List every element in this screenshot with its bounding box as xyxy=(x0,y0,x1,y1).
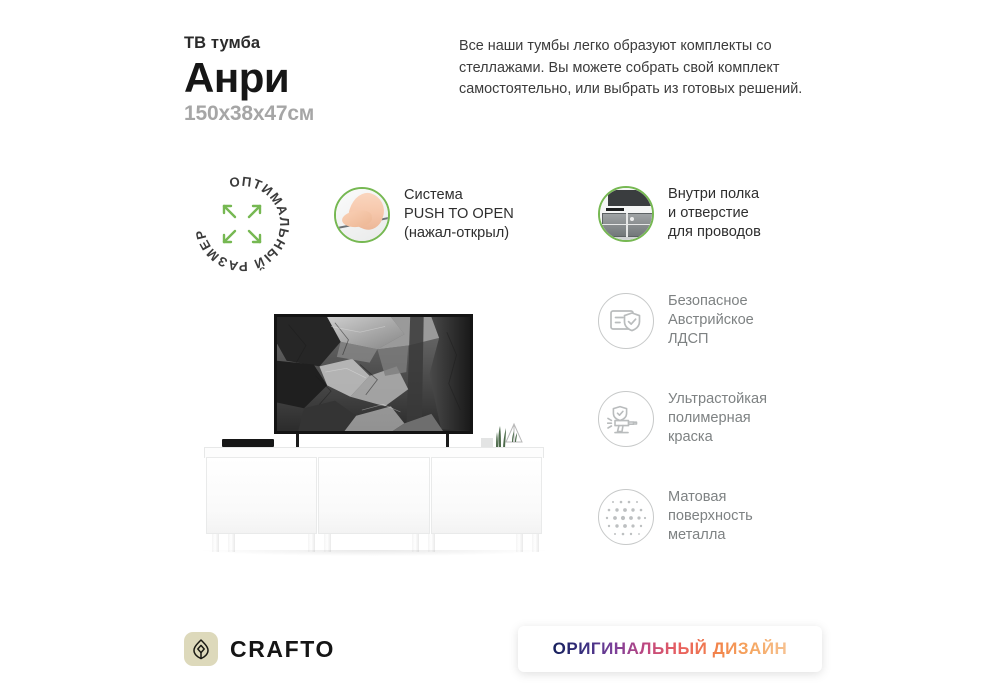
cabinet-doors xyxy=(206,457,542,534)
feature-polymer-paint: Ультрастойкая полимерная краска xyxy=(598,390,767,447)
optimal-size-badge: ОПТИМАЛЬНЫЙ РАЗМЕР xyxy=(186,168,298,280)
feature-matte-metal-label: Матовая поверхность металла xyxy=(668,488,753,545)
original-design-text: ОРИГИНАЛЬНЫЙ ДИЗАЙН xyxy=(553,639,788,659)
spray-gun-shield-icon xyxy=(598,391,654,447)
brand-name: CRAFTO xyxy=(230,636,335,663)
product-dimensions: 150x38x47см xyxy=(184,102,444,126)
svg-text:ОПТИМАЛЬНЫЙ РАЗМЕР: ОПТИМАЛЬНЫЙ РАЗМЕР xyxy=(192,174,292,274)
cabinet-interior-shelf-icon xyxy=(598,186,654,242)
cabinet-door xyxy=(431,457,542,534)
feature-push-to-open: Система PUSH TO OPEN (нажал-открыл) xyxy=(334,186,514,243)
brand-logo: CRAFTO xyxy=(184,632,335,666)
cabinet-door xyxy=(206,457,317,534)
feature-austrian-chipboard: Безопасное Австрийское ЛДСП xyxy=(598,292,754,349)
feature-matte-metal: Матовая поверхность металла xyxy=(598,488,753,545)
plant-and-terrarium xyxy=(494,422,524,450)
feature-inner-shelf: Внутри полка и отверстие для проводов xyxy=(598,185,761,242)
soundbar xyxy=(222,439,274,447)
feature-polymer-paint-label: Ультрастойкая полимерная краска xyxy=(668,390,767,447)
leaf-diamond-icon xyxy=(184,632,218,666)
cabinet-door xyxy=(318,457,429,534)
television xyxy=(274,314,473,434)
dot-grid-texture-icon xyxy=(598,489,654,545)
badge-circular-text: ОПТИМАЛЬНЫЙ РАЗМЕР xyxy=(192,174,292,274)
product-photo xyxy=(176,300,566,562)
original-design-banner: ОРИГИНАЛЬНЫЙ ДИЗАЙН xyxy=(518,626,822,672)
feature-push-to-open-label: Система PUSH TO OPEN (нажал-открыл) xyxy=(404,186,514,243)
hand-pressing-panel-icon xyxy=(334,187,390,243)
product-heading-group: ТВ тумба Анри 150x38x47см xyxy=(184,34,444,126)
product-description: Все наши тумбы легко образуют комплекты … xyxy=(459,36,827,101)
four-arrows-expand-icon xyxy=(224,206,260,242)
product-title: Анри xyxy=(184,56,444,100)
certificate-shield-check-icon xyxy=(598,293,654,349)
product-category-label: ТВ тумба xyxy=(184,34,444,54)
feature-austrian-chipboard-label: Безопасное Австрийское ЛДСП xyxy=(668,292,754,349)
feature-inner-shelf-label: Внутри полка и отверстие для проводов xyxy=(668,185,761,242)
tv-screen-image xyxy=(277,317,470,431)
floor-shadow xyxy=(202,550,546,556)
infographic-page: ТВ тумба Анри 150x38x47см Все наши тумбы… xyxy=(0,0,1000,700)
